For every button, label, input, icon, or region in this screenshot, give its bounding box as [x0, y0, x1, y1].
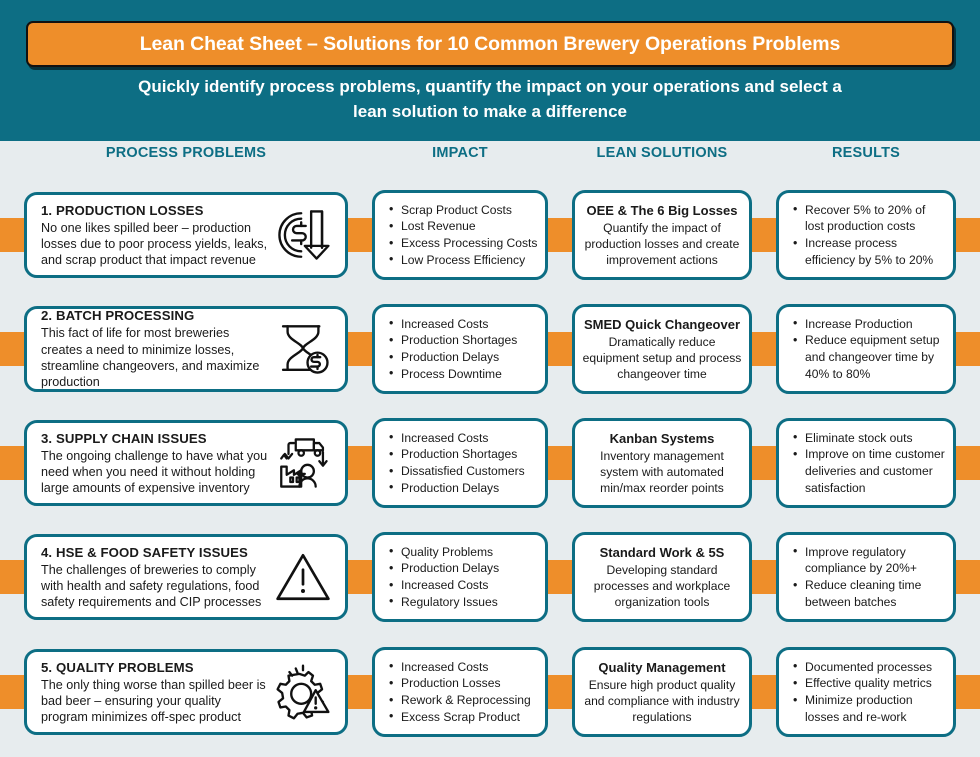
list-item: Excess Processing Costs [389, 235, 539, 252]
problem-description: The only thing worse than spilled beer i… [41, 677, 269, 726]
list-item: Minimize production losses and re-work [793, 692, 947, 725]
problem-title: 3. SUPPLY CHAIN ISSUES [41, 430, 269, 447]
process-problem-card[interactable]: 5. QUALITY PROBLEMSThe only thing worse … [24, 649, 348, 735]
solution-description: Dramatically reduce equipment setup and … [581, 334, 743, 383]
list-item: Reduce equipment setup and changeover ti… [793, 332, 947, 382]
list-item: Dissatisfied Customers [389, 463, 539, 480]
problem-description: The challenges of breweries to comply wi… [41, 562, 269, 611]
problem-title: 4. HSE & FOOD SAFETY ISSUES [41, 544, 269, 561]
process-problem-card[interactable]: 4. HSE & FOOD SAFETY ISSUESThe challenge… [24, 534, 348, 620]
header-banner: Lean Cheat Sheet – Solutions for 10 Comm… [0, 0, 980, 141]
results-card[interactable]: Increase ProductionReduce equipment setu… [776, 304, 956, 394]
column-header-impact: IMPACT [372, 145, 548, 161]
impact-card[interactable]: Increased CostsProduction ShortagesProdu… [372, 304, 548, 394]
impact-list: Increased CostsProduction ShortagesDissa… [375, 421, 545, 505]
list-item: Increased Costs [389, 430, 539, 447]
list-item: Process Downtime [389, 366, 539, 383]
problem-row: 3. SUPPLY CHAIN ISSUESThe ongoing challe… [0, 406, 980, 520]
problem-title: 2. BATCH PROCESSING [41, 307, 269, 324]
lean-solution-card[interactable]: Kanban SystemsInventory management syste… [572, 418, 752, 508]
impact-card[interactable]: Scrap Product CostsLost RevenueExcess Pr… [372, 190, 548, 280]
impact-card[interactable]: Increased CostsProduction LossesRework &… [372, 647, 548, 737]
lean-solution-card[interactable]: Quality ManagementEnsure high product qu… [572, 647, 752, 737]
problem-description: This fact of life for most breweries cre… [41, 325, 269, 390]
column-header-process-problems: PROCESS PROBLEMS [24, 145, 348, 161]
list-item: Production Delays [389, 349, 539, 366]
gear-warning-icon [269, 659, 337, 725]
list-item: Low Process Efficiency [389, 252, 539, 269]
page-title: Lean Cheat Sheet – Solutions for 10 Comm… [140, 33, 841, 56]
list-item: Increased Costs [389, 659, 539, 676]
rows-container: 1. PRODUCTION LOSSESNo one likes spilled… [0, 178, 980, 750]
results-list: Recover 5% to 20% of lost production cos… [779, 193, 953, 277]
list-item: Production Delays [389, 560, 539, 577]
process-problem-card[interactable]: 1. PRODUCTION LOSSESNo one likes spilled… [24, 192, 348, 278]
list-item: Quality Problems [389, 544, 539, 561]
column-header-lean-solutions: LEAN SOLUTIONS [572, 145, 752, 161]
hourglass-dollar-icon [269, 316, 337, 382]
list-item: Improve regulatory compliance by 20%+ [793, 544, 947, 577]
solution-description: Inventory management system with automat… [581, 448, 743, 497]
results-card[interactable]: Documented processesEffective quality me… [776, 647, 956, 737]
lean-solution-card[interactable]: OEE & The 6 Big LossesQuantify the impac… [572, 190, 752, 280]
list-item: Production Losses [389, 675, 539, 692]
list-item: Production Shortages [389, 446, 539, 463]
problem-row: 1. PRODUCTION LOSSESNo one likes spilled… [0, 178, 980, 292]
list-item: Excess Scrap Product [389, 709, 539, 726]
solution-title: Kanban Systems [581, 430, 743, 447]
problem-title: 1. PRODUCTION LOSSES [41, 202, 269, 219]
process-problem-card[interactable]: 3. SUPPLY CHAIN ISSUESThe ongoing challe… [24, 420, 348, 506]
impact-list: Scrap Product CostsLost RevenueExcess Pr… [375, 193, 545, 277]
list-item: Reduce cleaning time between batches [793, 577, 947, 610]
impact-list: Quality ProblemsProduction DelaysIncreas… [375, 535, 545, 619]
problem-row: 2. BATCH PROCESSINGThis fact of life for… [0, 292, 980, 406]
results-card[interactable]: Improve regulatory compliance by 20%+Red… [776, 532, 956, 622]
problem-description: The ongoing challenge to have what you n… [41, 448, 269, 497]
impact-list: Increased CostsProduction LossesRework &… [375, 650, 545, 734]
list-item: Regulatory Issues [389, 594, 539, 611]
results-list: Improve regulatory compliance by 20%+Red… [779, 535, 953, 619]
solution-title: SMED Quick Changeover [581, 316, 743, 333]
solution-title: Standard Work & 5S [581, 544, 743, 561]
results-card[interactable]: Eliminate stock outsImprove on time cust… [776, 418, 956, 508]
list-item: Documented processes [793, 659, 947, 676]
list-item: Production Delays [389, 480, 539, 497]
list-item: Effective quality metrics [793, 675, 947, 692]
impact-list: Increased CostsProduction ShortagesProdu… [375, 307, 545, 391]
problem-title: 5. QUALITY PROBLEMS [41, 659, 269, 676]
results-list: Documented processesEffective quality me… [779, 650, 953, 734]
title-bar: Lean Cheat Sheet – Solutions for 10 Comm… [26, 21, 954, 67]
problem-description: No one likes spilled beer – production l… [41, 220, 269, 269]
list-item: Scrap Product Costs [389, 202, 539, 219]
lean-solution-card[interactable]: Standard Work & 5SDeveloping standard pr… [572, 532, 752, 622]
results-list: Eliminate stock outsImprove on time cust… [779, 421, 953, 505]
page-subtitle: Quickly identify process problems, quant… [0, 74, 980, 124]
dollar-down-arrow-icon [269, 202, 337, 268]
solution-description: Quantify the impact of production losses… [581, 220, 743, 269]
results-card[interactable]: Recover 5% to 20% of lost production cos… [776, 190, 956, 280]
list-item: Production Shortages [389, 332, 539, 349]
impact-card[interactable]: Increased CostsProduction ShortagesDissa… [372, 418, 548, 508]
solution-title: OEE & The 6 Big Losses [581, 202, 743, 219]
column-header-results: RESULTS [776, 145, 956, 161]
list-item: Rework & Reprocessing [389, 692, 539, 709]
truck-factory-customer-icon [269, 430, 337, 496]
list-item: Increased Costs [389, 577, 539, 594]
list-item: Eliminate stock outs [793, 430, 947, 447]
list-item: Increase process efficiency by 5% to 20% [793, 235, 947, 268]
problem-row: 4. HSE & FOOD SAFETY ISSUESThe challenge… [0, 520, 980, 634]
warning-triangle-icon [269, 544, 337, 610]
solution-description: Ensure high product quality and complian… [581, 677, 743, 726]
list-item: Improve on time customer deliveries and … [793, 446, 947, 496]
problem-row: 5. QUALITY PROBLEMSThe only thing worse … [0, 634, 980, 750]
solution-title: Quality Management [581, 659, 743, 676]
list-item: Increase Production [793, 316, 947, 333]
results-list: Increase ProductionReduce equipment setu… [779, 307, 953, 391]
infographic-page: Lean Cheat Sheet – Solutions for 10 Comm… [0, 0, 980, 757]
list-item: Increased Costs [389, 316, 539, 333]
column-headers: PROCESS PROBLEMS IMPACT LEAN SOLUTIONS R… [0, 145, 980, 177]
impact-card[interactable]: Quality ProblemsProduction DelaysIncreas… [372, 532, 548, 622]
solution-description: Developing standard processes and workpl… [581, 562, 743, 611]
list-item: Recover 5% to 20% of lost production cos… [793, 202, 947, 235]
list-item: Lost Revenue [389, 218, 539, 235]
process-problem-card[interactable]: 2. BATCH PROCESSINGThis fact of life for… [24, 306, 348, 392]
lean-solution-card[interactable]: SMED Quick ChangeoverDramatically reduce… [572, 304, 752, 394]
